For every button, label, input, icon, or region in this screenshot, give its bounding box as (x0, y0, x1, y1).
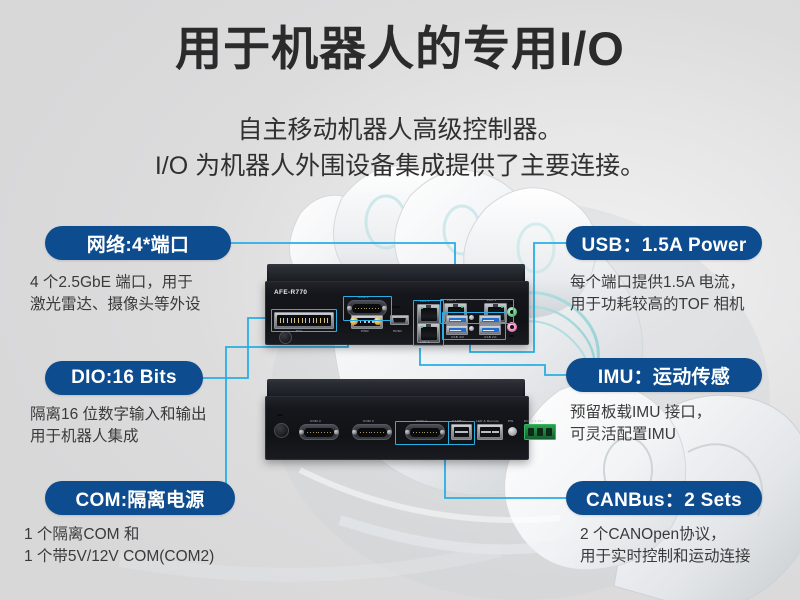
leader-line-imu (420, 348, 566, 375)
page-title: 用于机器人的专用I/O (0, 24, 800, 74)
callout-com-title[interactable]: COM:隔离电源 (45, 481, 235, 515)
page-subtitle: 自主移动机器人高级控制器。 I/O 为机器人外围设备集成提供了主要连接。 (0, 113, 800, 184)
highlight-canbus (448, 421, 475, 445)
com4-screw-right (334, 430, 339, 435)
device-front-panel-image: AFE-R770 DIO COM 1 PWR (265, 281, 527, 343)
com4-screw-left (299, 430, 304, 435)
callout-canbus-title[interactable]: CANBus：2 Sets (566, 481, 762, 515)
highlight-dio (271, 309, 337, 332)
front-round-button (279, 331, 292, 344)
pw-indicator (508, 427, 517, 436)
device-front-top-lid-inner (269, 267, 523, 282)
callout-network-description: 4 个2.5GbE 端口，用于 激光雷达、摄像头等外设 (30, 272, 201, 317)
callout-com-desc-line-2: 1 个带5V/12V COM(COM2) (24, 546, 214, 568)
com4-connector (299, 424, 339, 440)
callout-com-desc-line-1: 1 个隔离COM 和 (24, 524, 214, 546)
poster-canvas: 用于机器人的专用I/O 自主移动机器人高级控制器。 I/O 为机器人外围设备集成… (0, 0, 800, 600)
callout-dio-title[interactable]: DIO:16 Bits (45, 361, 203, 395)
highlight-com2 (395, 421, 449, 445)
callout-canbus-description: 2 个CANOpen协议， 用于实时控制和运动连接 (580, 524, 751, 569)
leader-line-dio (203, 318, 272, 378)
callout-dio-desc-line-2: 用于机器人集成 (30, 426, 207, 448)
subtitle-line-2: I/O 为机器人外围设备集成提供了主要连接。 (0, 149, 800, 185)
com3-screw-right (387, 430, 392, 435)
callout-canbus-desc-line-1: 2 个CANOpen协议， (580, 524, 751, 546)
callout-dio-desc-line-1: 隔离16 位数字输入和输出 (30, 404, 207, 426)
com4-port-label: COM 4 (310, 419, 321, 423)
subtitle-line-1: 自主移动机器人高级控制器。 (0, 113, 800, 149)
callout-usb-title[interactable]: USB：1.5A Power (566, 226, 762, 260)
hdmi-connector (390, 315, 409, 325)
dc-in-slot-2 (537, 428, 543, 436)
callout-com-description: 1 个隔离COM 和 1 个带5V/12V COM(COM2) (24, 524, 214, 569)
device-front-faceplate: AFE-R770 DIO COM 1 PWR (265, 281, 529, 345)
com3-port-label: COM 3 (363, 419, 374, 423)
device-model-label: AFE-R770 (274, 289, 307, 296)
device-rear-faceplate: COM 4 COM 3 COM 2 CANBus (265, 396, 529, 460)
highlight-com1 (343, 296, 392, 321)
rear-power-button (274, 423, 289, 438)
callout-imu-desc-line-1: 预留板载IMU 接口， (570, 402, 711, 424)
com3-screw-left (352, 430, 357, 435)
callout-usb-desc-line-1: 每个端口提供1.5A 电流， (570, 272, 745, 294)
callout-imu-description: 预留板载IMU 接口， 可灵活配置IMU (570, 402, 711, 447)
highlight-usb (442, 312, 506, 340)
hdmi-port-label: HDMI (393, 329, 402, 333)
device-rear-panel-image: COM 4 COM 3 COM 2 CANBus (265, 396, 527, 458)
com3-pins (359, 429, 385, 435)
callout-canbus-desc-line-2: 用于实时控制和运动连接 (580, 546, 751, 568)
com3-connector (352, 424, 392, 440)
callout-imu-desc-line-2: 可灵活配置IMU (570, 424, 711, 446)
audio-icon-bottom (509, 335, 514, 337)
mic-in-hole (510, 325, 515, 330)
led-remote-connector (477, 424, 503, 440)
callout-network-title[interactable]: 网络:4*端口 (45, 226, 231, 260)
dc-in-slot-3 (546, 428, 552, 436)
led-remote-pins (480, 427, 500, 437)
dc-in-connector (524, 424, 556, 440)
pw-port-label: PW (508, 419, 513, 423)
callout-dio-description: 隔离16 位数字输入和输出 用于机器人集成 (30, 404, 207, 449)
led-remote-port-label: LED & Remote (476, 419, 499, 423)
callout-usb-desc-line-2: 用于功耗较高的TOF 相机 (570, 294, 745, 316)
device-rear-top-lid-inner (269, 382, 523, 397)
hdmi-inner (393, 318, 406, 323)
com4-pins (306, 429, 332, 435)
front-vent-slot (392, 306, 400, 308)
pwr-port-label: PWR (361, 329, 369, 333)
callout-network-desc-line-1: 4 个2.5GbE 端口，用于 (30, 272, 201, 294)
callout-imu-title[interactable]: IMU：运动传感 (566, 358, 762, 392)
dc-in-slot-1 (528, 428, 534, 436)
dc-in-port-label: DC IN 9-36V (524, 419, 544, 423)
callout-usb-description: 每个端口提供1.5A 电流， 用于功耗较高的TOF 相机 (570, 272, 745, 317)
callout-network-desc-line-2: 激光雷达、摄像头等外设 (30, 294, 201, 316)
rear-power-icon (277, 414, 283, 416)
